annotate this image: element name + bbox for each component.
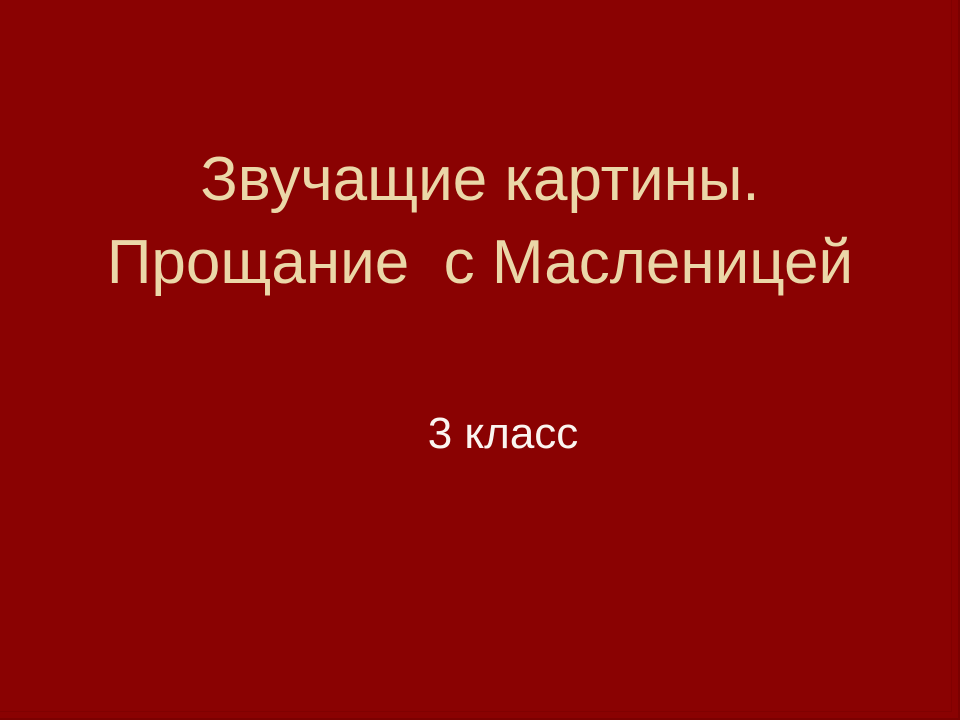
slide-border-inner <box>0 0 952 712</box>
slide-border <box>0 0 960 720</box>
slide-title-line-1: Звучащие картины. <box>0 138 960 221</box>
presentation-slide: Звучащие картины. Прощание с Масленицей … <box>0 0 960 720</box>
slide-subtitle-text: 3 класс <box>428 408 579 460</box>
slide-title: Звучащие картины. Прощание с Масленицей <box>0 138 960 304</box>
slide-subtitle: 3 класс <box>0 408 960 460</box>
slide-title-line-2: Прощание с Масленицей <box>0 221 960 304</box>
